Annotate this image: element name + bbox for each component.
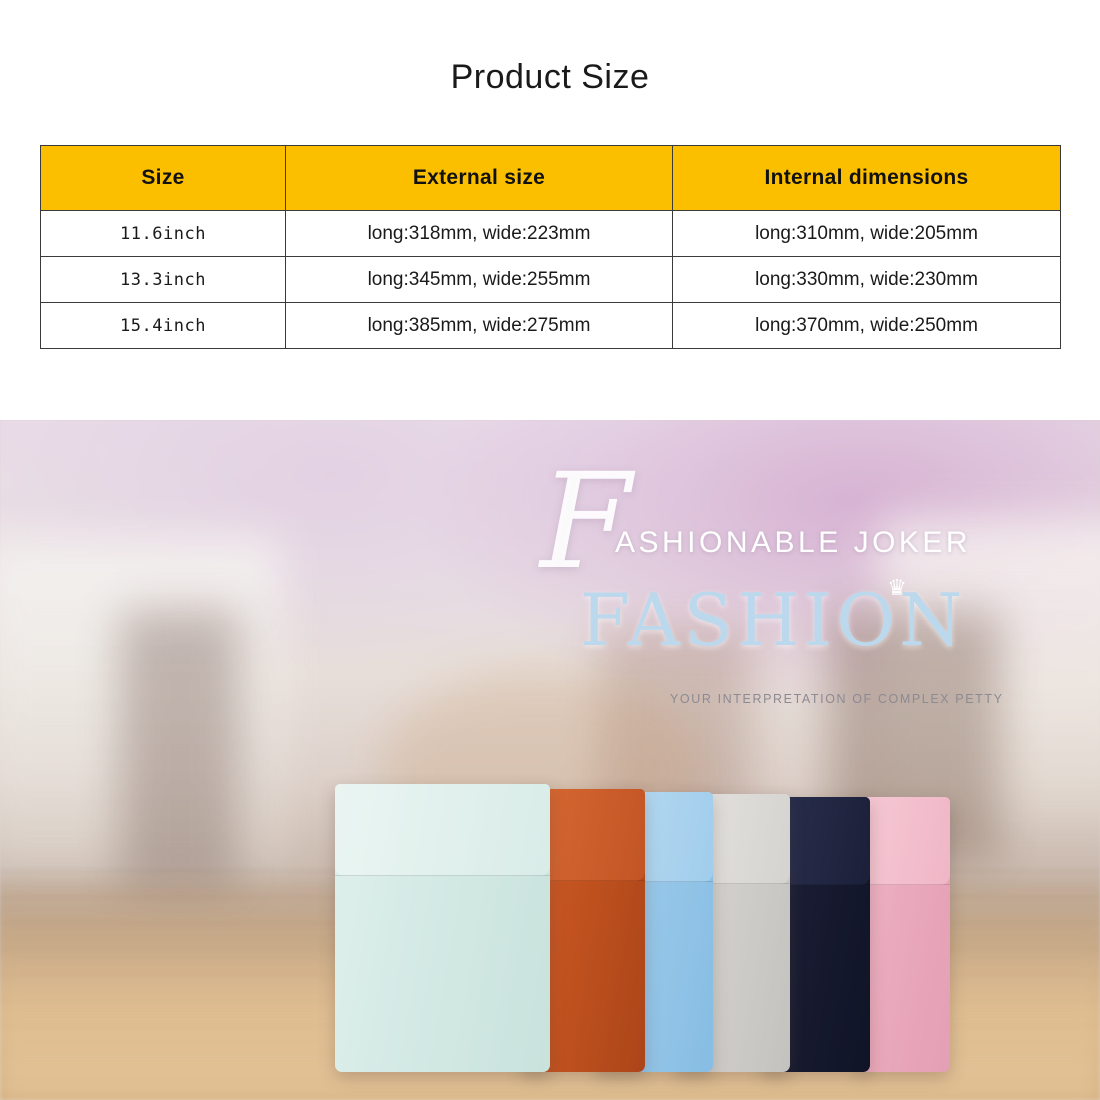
cell-internal-dimensions: long:370mm, wide:250mm bbox=[673, 303, 1061, 349]
column-header-size: Size bbox=[41, 146, 286, 211]
table-body: 11.6inch long:318mm, wide:223mm long:310… bbox=[41, 211, 1061, 349]
table-row: 13.3inch long:345mm, wide:255mm long:330… bbox=[41, 257, 1061, 303]
column-header-internal-dimensions: Internal dimensions bbox=[673, 146, 1061, 211]
product-hero-image: F ASHIONABLE JOKER FASHION ♛ YOUR INTERP… bbox=[0, 420, 1100, 1100]
cell-size: 15.4inch bbox=[41, 303, 286, 349]
column-header-external-size: External size bbox=[286, 146, 673, 211]
cell-internal-dimensions: long:330mm, wide:230mm bbox=[673, 257, 1061, 303]
sleeve-flap bbox=[335, 784, 550, 876]
cell-size: 13.3inch bbox=[41, 257, 286, 303]
product-sleeve-mint bbox=[335, 784, 550, 1072]
cell-external-size: long:385mm, wide:275mm bbox=[286, 303, 673, 349]
cell-size: 11.6inch bbox=[41, 211, 286, 257]
product-size-table: Size External size Internal dimensions 1… bbox=[40, 145, 1061, 349]
cell-internal-dimensions: long:310mm, wide:205mm bbox=[673, 211, 1061, 257]
cell-external-size: long:345mm, wide:255mm bbox=[286, 257, 673, 303]
product-sleeve-row bbox=[0, 772, 1100, 1072]
table-row: 15.4inch long:385mm, wide:275mm long:370… bbox=[41, 303, 1061, 349]
product-size-table-wrapper: Size External size Internal dimensions 1… bbox=[40, 145, 1060, 349]
table-row: 11.6inch long:318mm, wide:223mm long:310… bbox=[41, 211, 1061, 257]
table-header: Size External size Internal dimensions bbox=[41, 146, 1061, 211]
cell-external-size: long:318mm, wide:223mm bbox=[286, 211, 673, 257]
page-title: Product Size bbox=[0, 0, 1100, 97]
table-header-row: Size External size Internal dimensions bbox=[41, 146, 1061, 211]
